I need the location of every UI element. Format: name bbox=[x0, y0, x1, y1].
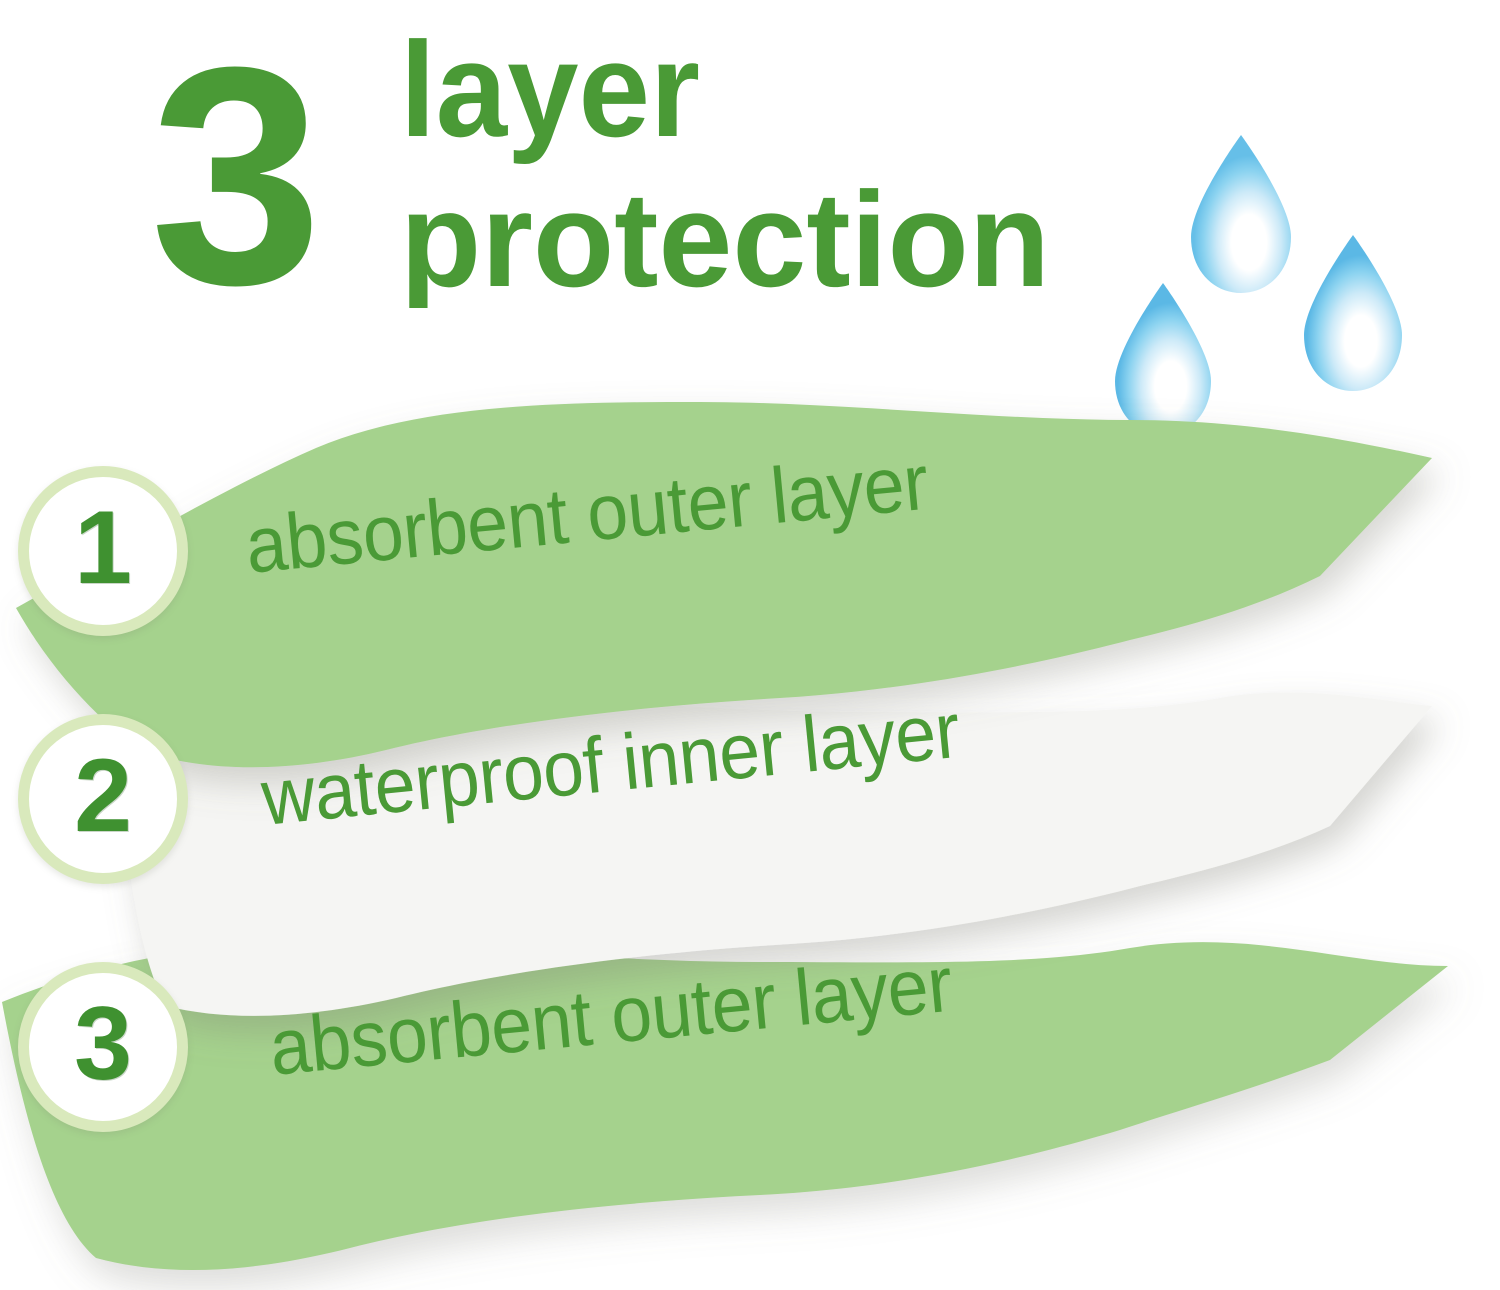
layer-badge-2: 2 bbox=[18, 714, 188, 884]
layer-badge-number-3: 3 bbox=[74, 992, 132, 1096]
layer-badge-number-1: 1 bbox=[74, 496, 132, 600]
layer-stack bbox=[0, 0, 1500, 1290]
layer-badge-number-2: 2 bbox=[74, 744, 132, 848]
layer-badge-1: 1 bbox=[18, 466, 188, 636]
layer-badge-3: 3 bbox=[18, 962, 188, 1132]
infographic-canvas: 3 layer protection bbox=[0, 0, 1500, 1290]
layer-shapes-svg bbox=[0, 0, 1500, 1290]
